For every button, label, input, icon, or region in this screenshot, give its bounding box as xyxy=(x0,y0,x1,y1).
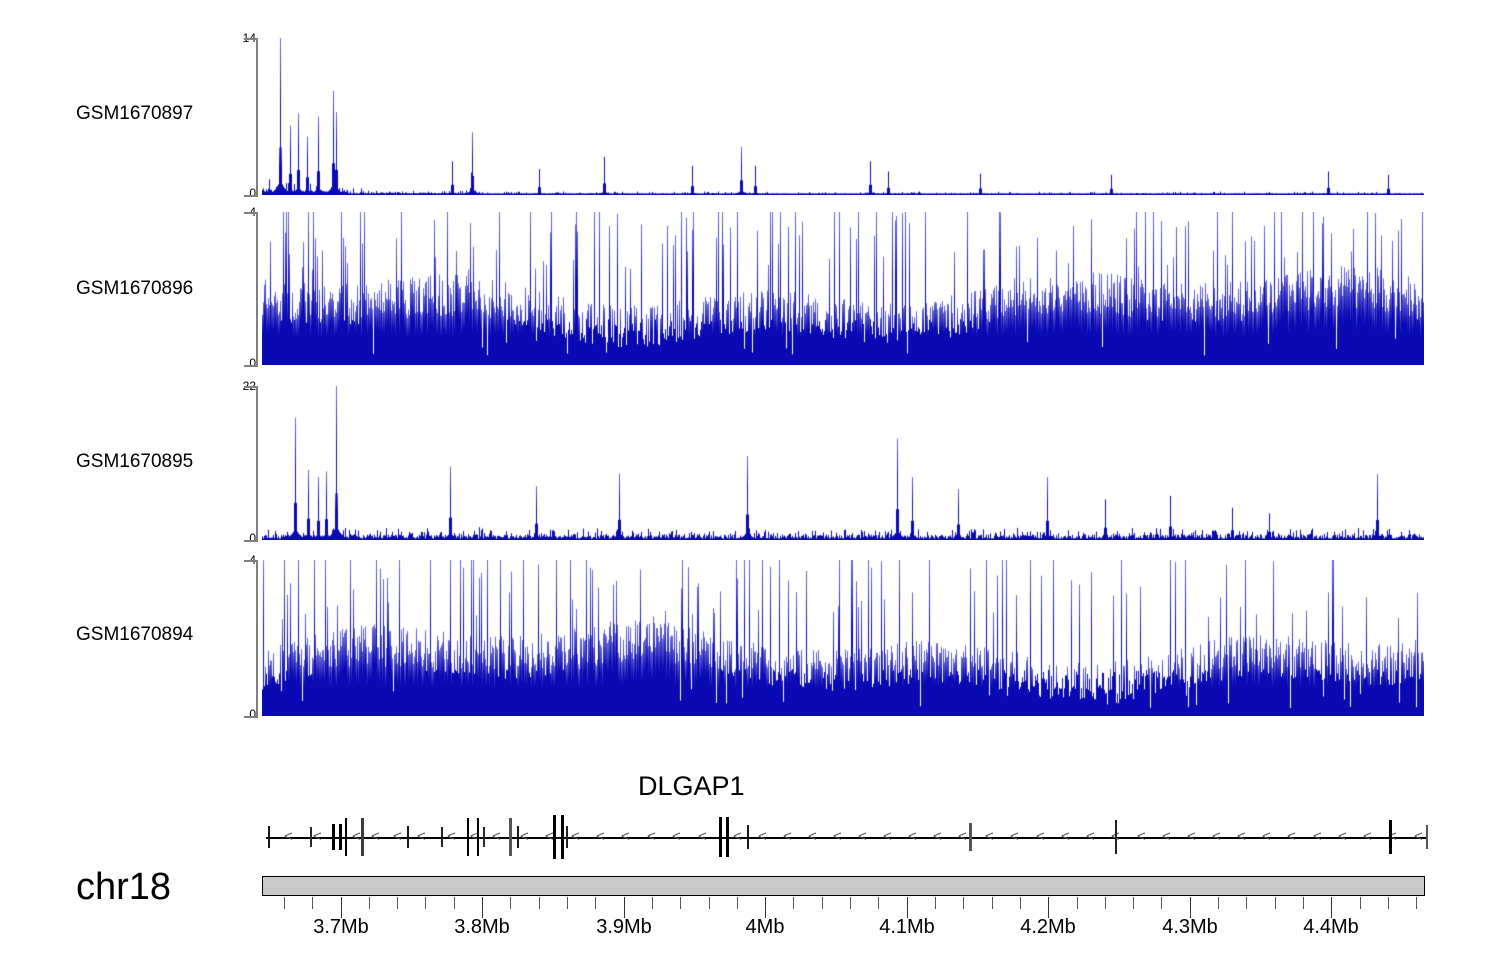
ruler-tick-minor xyxy=(850,897,851,909)
ruler-tick-minor xyxy=(992,897,993,909)
gene-exon[interactable] xyxy=(345,818,347,856)
gene-exon[interactable] xyxy=(566,826,568,848)
ruler-tick-label: 4.4Mb xyxy=(1303,916,1359,939)
gene-exon[interactable] xyxy=(310,827,312,847)
strand-arrow-icon: < xyxy=(417,829,426,844)
ruler-tick-minor xyxy=(1303,897,1304,909)
gene-exon[interactable] xyxy=(1389,820,1392,854)
ruler-tick-major xyxy=(482,897,483,918)
ruler-tick-minor xyxy=(369,897,370,909)
strand-arrow-icon: < xyxy=(1010,829,1019,844)
ruler-tick-minor xyxy=(652,897,653,909)
track-label-gsm1670896: GSM1670896 xyxy=(76,278,193,300)
ruler-tick-major xyxy=(341,897,342,918)
ruler-tick-minor xyxy=(312,897,313,909)
ruler-tick-minor xyxy=(793,897,794,909)
strand-arrow-icon: < xyxy=(313,829,322,844)
axis-min-label-3: 0 xyxy=(212,707,256,721)
ruler-tick-minor xyxy=(1416,897,1417,909)
ruler-tick-minor xyxy=(737,897,738,909)
y-axis-line-0 xyxy=(256,38,258,195)
gene-exon[interactable] xyxy=(553,815,556,859)
y-axis-tick-2-min xyxy=(244,540,258,542)
gene-exon[interactable] xyxy=(339,824,342,850)
y-axis-tick-0-min xyxy=(244,195,258,197)
ruler-tick-minor xyxy=(709,897,710,909)
gene-exon[interactable] xyxy=(726,817,729,857)
strand-arrow-icon: < xyxy=(908,829,917,844)
ruler-tick-minor xyxy=(454,897,455,909)
ideogram-bar[interactable] xyxy=(262,876,1425,896)
gene-exon[interactable] xyxy=(332,824,335,850)
ruler-tick-minor xyxy=(1275,897,1276,909)
ruler-tick-minor xyxy=(425,897,426,909)
strand-arrow-icon: < xyxy=(393,829,402,844)
gene-exon[interactable] xyxy=(477,818,479,856)
y-axis-line-2 xyxy=(256,386,258,540)
ruler-tick-minor xyxy=(1218,897,1219,909)
plot-area-gsm1670895[interactable] xyxy=(262,386,1424,540)
strand-arrow-icon: < xyxy=(1187,829,1196,844)
gene-exon[interactable] xyxy=(719,817,722,857)
plot-area-gsm1670897[interactable] xyxy=(262,38,1424,195)
axis-min-label-2: 0 xyxy=(206,531,256,545)
plot-area-gsm1670896[interactable] xyxy=(262,212,1424,365)
ruler-tick-minor xyxy=(567,897,568,909)
y-axis-line-3 xyxy=(256,560,258,716)
ruler-tick-minor xyxy=(1077,897,1078,909)
track-label-gsm1670897: GSM1670897 xyxy=(76,103,193,125)
strand-arrow-icon: < xyxy=(698,829,707,844)
strand-arrow-icon: < xyxy=(733,829,742,844)
plot-area-gsm1670894[interactable] xyxy=(262,560,1424,716)
track-label-gsm1670894: GSM1670894 xyxy=(76,624,193,646)
axis-min-label-1: 0 xyxy=(212,356,256,370)
y-axis-line-1 xyxy=(256,212,258,365)
ruler-tick-major xyxy=(1331,897,1332,918)
strand-arrow-icon: < xyxy=(958,829,967,844)
ruler-tick-label: 4Mb xyxy=(746,916,785,939)
track-label-gsm1670895: GSM1670895 xyxy=(76,451,193,473)
strand-arrow-icon: < xyxy=(571,829,580,844)
strand-arrow-icon: < xyxy=(621,829,630,844)
strand-arrow-icon: < xyxy=(352,829,361,844)
ruler-tick-label: 3.9Mb xyxy=(596,916,652,939)
strand-arrow-icon: < xyxy=(520,829,529,844)
ruler-tick-minor xyxy=(963,897,964,909)
strand-arrow-icon: < xyxy=(1363,829,1372,844)
y-axis-tick-1-max xyxy=(244,212,258,214)
ruler-tick-minor xyxy=(1360,897,1361,909)
strand-arrow-icon: < xyxy=(1313,829,1322,844)
ruler-tick-minor xyxy=(539,897,540,909)
strand-arrow-icon: < xyxy=(858,829,867,844)
chromosome-label: chr18 xyxy=(76,866,171,909)
y-axis-tick-3-max xyxy=(244,560,258,562)
ruler-tick-minor xyxy=(397,897,398,909)
strand-arrow-icon: < xyxy=(647,829,656,844)
strand-arrow-icon: < xyxy=(1162,829,1171,844)
ruler-tick-minor xyxy=(284,897,285,909)
ruler-tick-label: 4.2Mb xyxy=(1020,916,1076,939)
strand-arrow-icon: < xyxy=(985,829,994,844)
y-axis-tick-2-max xyxy=(244,386,258,388)
y-axis-tick-0-max xyxy=(244,38,258,40)
strand-arrow-icon: < xyxy=(1287,829,1296,844)
strand-arrow-icon: < xyxy=(758,829,767,844)
strand-arrow-icon: < xyxy=(833,829,842,844)
strand-arrow-icon: < xyxy=(447,829,456,844)
ruler-tick-label: 3.7Mb xyxy=(313,916,369,939)
gene-exon[interactable] xyxy=(441,827,443,847)
gene-exon[interactable] xyxy=(268,826,270,848)
strand-arrow-icon: < xyxy=(1036,829,1045,844)
genome-browser-view: GSM1670897 14 0 GSM1670896 4 0 GSM167089… xyxy=(0,0,1500,980)
strand-arrow-icon: < xyxy=(596,829,605,844)
ruler-tick-minor xyxy=(1133,897,1134,909)
gene-exon[interactable] xyxy=(483,827,485,847)
ruler-tick-major xyxy=(1190,897,1191,918)
y-axis-tick-1-min xyxy=(244,365,258,367)
strand-arrow-icon: < xyxy=(783,829,792,844)
ruler-tick-major xyxy=(1048,897,1049,918)
ruler-tick-minor xyxy=(1246,897,1247,909)
gene-exon[interactable] xyxy=(1426,825,1428,849)
ruler-tick-minor xyxy=(1388,897,1389,909)
strand-arrow-icon: < xyxy=(1338,829,1347,844)
ruler-tick-minor xyxy=(1020,897,1021,909)
strand-arrow-icon: < xyxy=(1061,829,1070,844)
axis-min-label-0: 0 xyxy=(212,186,256,200)
gene-exon[interactable] xyxy=(561,815,564,859)
ruler-tick-label: 3.8Mb xyxy=(454,916,510,939)
ruler-tick-minor xyxy=(822,897,823,909)
ruler-tick-major xyxy=(624,897,625,918)
ruler-tick-label: 4.3Mb xyxy=(1162,916,1218,939)
gene-label-dlgap1: DLGAP1 xyxy=(638,771,745,802)
ruler-tick-label: 4.1Mb xyxy=(879,916,935,939)
ruler-tick-minor xyxy=(935,897,936,909)
strand-arrow-icon: < xyxy=(883,829,892,844)
strand-arrow-icon: < xyxy=(371,829,380,844)
ruler-tick-minor xyxy=(1105,897,1106,909)
ruler-tick-minor xyxy=(595,897,596,909)
strand-arrow-icon: < xyxy=(1086,829,1095,844)
gene-exon[interactable] xyxy=(517,826,519,848)
strand-arrow-icon: < xyxy=(1262,829,1271,844)
gene-exon[interactable] xyxy=(1115,820,1117,854)
strand-arrow-icon: < xyxy=(1137,829,1146,844)
strand-arrow-icon: < xyxy=(672,829,681,844)
gene-exon[interactable] xyxy=(969,823,972,851)
ruler-tick-major xyxy=(765,897,766,918)
ruler-tick-minor xyxy=(510,897,511,909)
ruler-tick-minor xyxy=(878,897,879,909)
strand-arrow-icon: < xyxy=(1212,829,1221,844)
ruler-tick-minor xyxy=(680,897,681,909)
strand-arrow-icon: < xyxy=(1237,829,1246,844)
strand-arrow-icon: < xyxy=(1414,829,1423,844)
gene-exon[interactable] xyxy=(361,818,364,856)
strand-arrow-icon: < xyxy=(808,829,817,844)
strand-arrow-icon: < xyxy=(284,829,293,844)
ruler-tick-minor xyxy=(1161,897,1162,909)
y-axis-tick-3-min xyxy=(244,716,258,718)
gene-exon[interactable] xyxy=(407,826,409,848)
gene-exon[interactable] xyxy=(747,825,749,849)
gene-exon[interactable] xyxy=(467,818,469,856)
ruler-tick-major xyxy=(907,897,908,918)
strand-arrow-icon: < xyxy=(492,829,501,844)
strand-arrow-icon: < xyxy=(933,829,942,844)
gene-exon[interactable] xyxy=(509,818,512,856)
